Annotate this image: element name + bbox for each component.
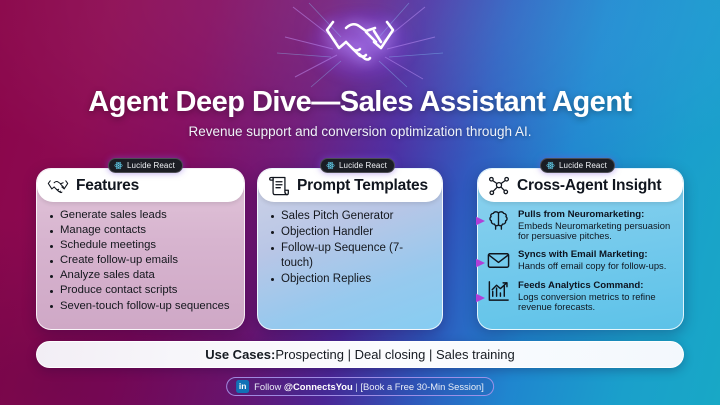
insight-row-email-marketing: Syncs with Email Marketing: Hands off em… (486, 248, 676, 273)
list-item: Follow-up Sequence (7-touch) (270, 241, 432, 271)
book-session-cta[interactable]: [Book a Free 30-Min Session] (360, 381, 484, 392)
list-item: Sales Pitch Generator (270, 209, 432, 224)
use-cases-label: Use Cases: (205, 347, 275, 362)
list-item: Seven-touch follow-up sequences (49, 300, 234, 314)
footer-text: Follow @ConnectsYou | [Book a Free 30-Mi… (254, 381, 484, 392)
card-prompt-templates: Prompt Templates Sales Pitch Generator O… (257, 168, 443, 330)
card-features: Features Generate sales leads Manage con… (36, 168, 245, 330)
features-list: Generate sales leads Manage contacts Sch… (49, 209, 234, 313)
list-item: Generate sales leads (49, 209, 234, 223)
list-item: Produce contact scripts (49, 284, 234, 298)
lucide-react-badge-prompts: Lucide React (320, 158, 395, 173)
card-features-header: Features (37, 169, 244, 202)
list-item: Objection Replies (270, 272, 432, 287)
badge-label: Lucide React (559, 161, 607, 170)
insight-title: Feeds Analytics Command: (518, 280, 676, 291)
use-cases-value: Prospecting | Deal closing | Sales train… (275, 347, 514, 362)
lucide-react-badge-features: Lucide React (108, 158, 183, 173)
flow-arrow-email-marketing (443, 258, 489, 267)
network-share-icon (488, 175, 510, 197)
footer-cta-pill[interactable]: in Follow @ConnectsYou | [Book a Free 30… (226, 377, 494, 396)
insight-title: Pulls from Neuromarketing: (518, 209, 676, 220)
list-item: Objection Handler (270, 225, 432, 240)
card-features-body: Generate sales leads Manage contacts Sch… (37, 202, 244, 313)
brain-icon (486, 208, 511, 233)
list-item: Create follow-up emails (49, 254, 234, 268)
list-item: Analyze sales data (49, 269, 234, 283)
insight-row-analytics-command: Feeds Analytics Command: Logs conversion… (486, 279, 676, 313)
follow-prefix: Follow (254, 381, 284, 392)
lucide-react-badge-insight: Lucide React (540, 158, 615, 173)
cards-row: Lucide React Lucide React Lucide React (0, 168, 720, 333)
handshake-icon (322, 8, 398, 70)
handle[interactable]: @ConnectsYou (284, 381, 353, 392)
insight-rows: Pulls from Neuromarketing: Embeds Neurom… (478, 202, 683, 313)
handshake-icon (47, 175, 69, 197)
react-atom-icon (546, 161, 555, 170)
react-atom-icon (326, 161, 335, 170)
insight-desc: Hands off email copy for follow-ups. (518, 261, 666, 272)
linkedin-icon: in (236, 380, 249, 393)
card-prompt-templates-header: Prompt Templates (258, 169, 442, 202)
prompt-templates-list: Sales Pitch Generator Objection Handler … (270, 209, 432, 287)
page-subtitle: Revenue support and conversion optimizat… (0, 124, 720, 139)
use-cases-bar: Use Cases: Prospecting | Deal closing | … (36, 341, 684, 368)
envelope-icon (486, 248, 511, 273)
list-item: Manage contacts (49, 224, 234, 238)
badge-label: Lucide React (127, 161, 175, 170)
insight-desc: Logs conversion metrics to refine revenu… (518, 292, 676, 314)
badge-label: Lucide React (339, 161, 387, 170)
flow-arrow-analytics-command (443, 293, 489, 302)
scroll-document-icon (268, 175, 290, 197)
card-cross-agent-insight-header: Cross-Agent Insight (478, 169, 683, 202)
card-prompt-templates-title: Prompt Templates (297, 177, 428, 195)
insight-row-neuromarketing: Pulls from Neuromarketing: Embeds Neurom… (486, 208, 676, 242)
card-cross-agent-insight: Cross-Agent Insight Pulls from Neuromark… (477, 168, 684, 330)
card-features-title: Features (76, 177, 139, 195)
card-cross-agent-insight-title: Cross-Agent Insight (517, 177, 661, 195)
handshake-logo (300, 8, 420, 82)
insight-desc: Embeds Neuromarketing persuasion for per… (518, 221, 676, 243)
react-atom-icon (114, 161, 123, 170)
list-item: Schedule meetings (49, 239, 234, 253)
insight-title: Syncs with Email Marketing: (518, 249, 666, 260)
hero-section: Agent Deep Dive—Sales Assistant Agent Re… (0, 8, 720, 139)
bar-chart-trend-icon (486, 279, 511, 304)
card-prompt-templates-body: Sales Pitch Generator Objection Handler … (258, 202, 442, 287)
flow-arrow-neuromarketing (443, 216, 489, 225)
